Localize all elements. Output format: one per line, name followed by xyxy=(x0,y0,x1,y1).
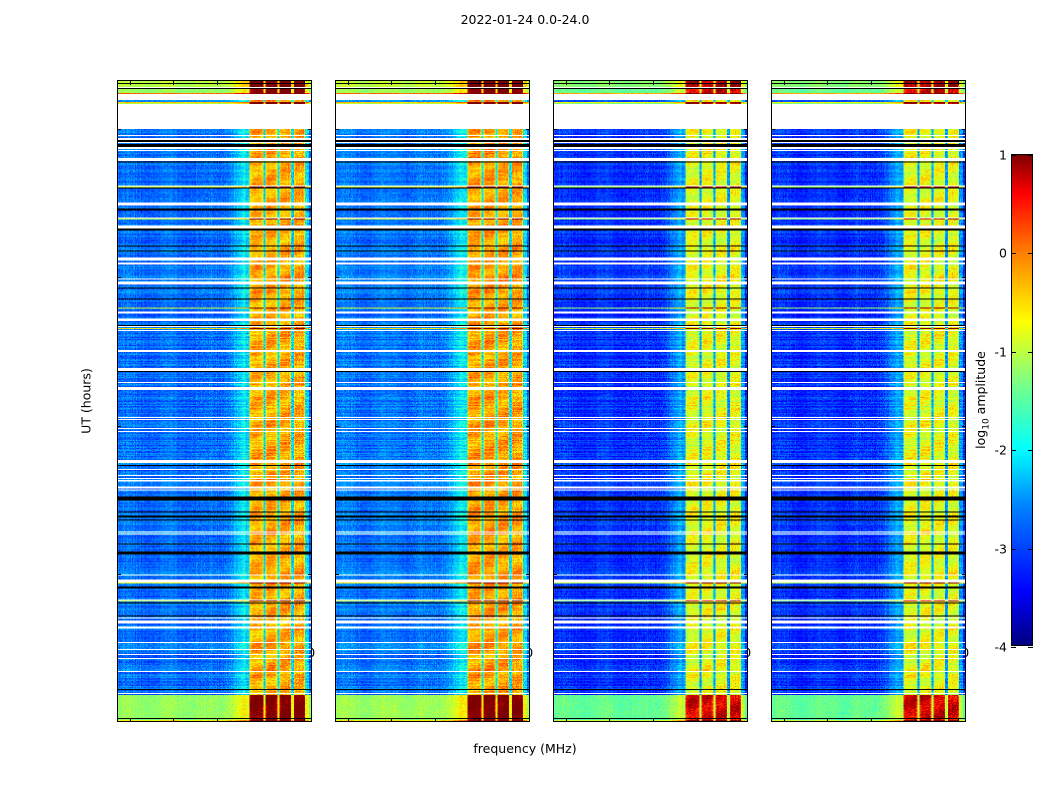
panel-yx-xtick-top-320 xyxy=(784,81,785,85)
panel-yx-xtick-365 xyxy=(915,718,916,722)
panel-yx-xtick-320 xyxy=(784,718,785,722)
panel-xy-xtick-top-335 xyxy=(609,81,610,85)
colorbar-tick-right--2 xyxy=(1028,450,1033,451)
panel-yx-xtick-350 xyxy=(871,718,872,722)
colorbar[interactable]: 10-1-2-3-4 xyxy=(1011,154,1033,646)
colorbar-ticklabel--1: -1 xyxy=(995,344,1007,359)
panel-yy-xtick-335 xyxy=(391,718,392,722)
panel-yy-xtick-top-320 xyxy=(348,81,349,85)
colorbar-tick-right--1 xyxy=(1028,352,1033,353)
panel-xx-xtick-335 xyxy=(173,718,174,722)
colorbar-label-main: log xyxy=(973,430,988,449)
colorbar-ticklabel--3: -3 xyxy=(995,541,1007,556)
colorbar-tick-right-0 xyxy=(1028,253,1033,254)
figure-suptitle: 2022-01-24 0.0-24.0 xyxy=(0,12,1050,27)
panel-xx-spectrogram xyxy=(118,81,311,721)
colorbar-ticklabel--2: -2 xyxy=(995,443,1007,458)
colorbar-label-subscript: 10 xyxy=(981,418,991,429)
panel-xx[interactable]: XX, V5*V14=EA06*EA1705101520 xyxy=(117,80,312,722)
colorbar-tick-right-1 xyxy=(1028,155,1033,156)
colorbar-tick--4 xyxy=(1011,647,1016,648)
panel-xy-ytick-10 xyxy=(553,426,557,427)
panel-yy-spectrogram xyxy=(336,81,529,721)
panel-yx-xtick-top-335 xyxy=(827,81,828,85)
panel-yx-ytick-right-5 xyxy=(962,574,966,575)
panel-xy[interactable]: XY, V5*V14=EA06*EA1705101520 xyxy=(553,80,748,722)
panel-xx-xtick-top-320 xyxy=(130,81,131,85)
colorbar-tick--3 xyxy=(1011,549,1016,550)
panel-yx-xtick-380 xyxy=(958,718,959,722)
colorbar-tick-1 xyxy=(1011,155,1016,156)
panel-yx-xtick-top-365 xyxy=(915,81,916,85)
panel-xy-xtick-top-350 xyxy=(653,81,654,85)
panel-xx-ytick-20 xyxy=(117,129,121,130)
panel-xx-xtick-top-365 xyxy=(261,81,262,85)
y-axis-label: UT (hours) xyxy=(79,368,94,434)
panel-yy-ytick-10 xyxy=(335,426,339,427)
panel-yy-ytick-5 xyxy=(335,574,339,575)
panel-yx-xtick-top-350 xyxy=(871,81,872,85)
panel-xx-xtick-top-380 xyxy=(304,81,305,85)
panel-xx-xtick-380 xyxy=(304,718,305,722)
panel-yy-ytick-right-20 xyxy=(526,129,530,130)
panel-yx-ytick-10 xyxy=(771,426,775,427)
colorbar-tick--1 xyxy=(1011,352,1016,353)
panel-xx-heatmap-canvas xyxy=(118,81,311,721)
panel-xx-ytick-15 xyxy=(117,277,121,278)
panel-xx-xtick-top-335 xyxy=(173,81,174,85)
panel-yx-ytick-right-15 xyxy=(962,277,966,278)
panel-yx-xtick-top-380 xyxy=(958,81,959,85)
panel-yy-ytick-15 xyxy=(335,277,339,278)
panel-xx-xtick-350 xyxy=(217,718,218,722)
panel-yy-ytick-right-5 xyxy=(526,574,530,575)
colorbar-tick-0 xyxy=(1011,253,1016,254)
panel-xy-ytick-right-10 xyxy=(744,426,748,427)
colorbar-label: log10 amplitude xyxy=(973,351,992,449)
panel-xy-spectrogram xyxy=(554,81,747,721)
panel-xx-ytick-right-5 xyxy=(308,574,312,575)
panel-yy-ytick-right-15 xyxy=(526,277,530,278)
panel-yy-xtick-top-365 xyxy=(479,81,480,85)
panel-xy-xtick-320 xyxy=(566,718,567,722)
panel-xy-xtick-top-380 xyxy=(740,81,741,85)
colorbar-tick-right--3 xyxy=(1028,549,1033,550)
panel-yx-ytick-5 xyxy=(771,574,775,575)
panel-xy-xtick-top-320 xyxy=(566,81,567,85)
colorbar-label-tail: amplitude xyxy=(973,351,988,418)
figure-canvas: 2022-01-24 0.0-24.0 frequency (MHz) UT (… xyxy=(0,0,1050,800)
panel-yx-ytick-right-20 xyxy=(962,129,966,130)
panel-xx-ytick-right-15 xyxy=(308,277,312,278)
panel-yy-xtick-top-350 xyxy=(435,81,436,85)
panel-yy-xtick-350 xyxy=(435,718,436,722)
panel-yx[interactable]: YX, V5*V14=EA06*EA1705101520 xyxy=(771,80,966,722)
panel-xy-heatmap-canvas xyxy=(554,81,747,721)
panel-yy-ytick-20 xyxy=(335,129,339,130)
panel-xy-xtick-350 xyxy=(653,718,654,722)
panel-xy-xtick-335 xyxy=(609,718,610,722)
colorbar-ticklabel-1: 1 xyxy=(999,148,1007,163)
x-axis-label: frequency (MHz) xyxy=(0,741,1050,756)
panel-xx-ytick-10 xyxy=(117,426,121,427)
panel-yy[interactable]: YY, V5*V14=EA06*EA1705101520 xyxy=(335,80,530,722)
panel-yy-xtick-top-335 xyxy=(391,81,392,85)
panel-yy-xtick-365 xyxy=(479,718,480,722)
panel-xx-xtick-top-350 xyxy=(217,81,218,85)
panel-yx-heatmap-canvas xyxy=(772,81,965,721)
panel-xy-ytick-right-5 xyxy=(744,574,748,575)
panel-xy-ytick-20 xyxy=(553,129,557,130)
panel-yy-xtick-top-380 xyxy=(522,81,523,85)
panel-xx-ytick-right-10 xyxy=(308,426,312,427)
colorbar-ticklabel--4: -4 xyxy=(995,640,1007,655)
panel-xy-xtick-top-365 xyxy=(697,81,698,85)
panel-yx-ytick-15 xyxy=(771,277,775,278)
panel-xx-ytick-5 xyxy=(117,574,121,575)
colorbar-tick--2 xyxy=(1011,450,1016,451)
panel-xy-xtick-365 xyxy=(697,718,698,722)
panel-xy-ytick-right-20 xyxy=(744,129,748,130)
panel-xy-ytick-15 xyxy=(553,277,557,278)
panel-yx-ytick-right-10 xyxy=(962,426,966,427)
panel-yx-xtick-335 xyxy=(827,718,828,722)
panel-yy-ytick-right-10 xyxy=(526,426,530,427)
panel-yx-spectrogram xyxy=(772,81,965,721)
panel-xx-xtick-320 xyxy=(130,718,131,722)
panel-yx-ytick-20 xyxy=(771,129,775,130)
panel-xy-xtick-380 xyxy=(740,718,741,722)
panel-xy-ytick-right-15 xyxy=(744,277,748,278)
panel-yy-xtick-320 xyxy=(348,718,349,722)
panel-yy-xtick-380 xyxy=(522,718,523,722)
colorbar-tick-right--4 xyxy=(1028,647,1033,648)
panel-xx-ytick-right-20 xyxy=(308,129,312,130)
panel-xy-ytick-5 xyxy=(553,574,557,575)
panel-xx-xtick-365 xyxy=(261,718,262,722)
panel-yy-heatmap-canvas xyxy=(336,81,529,721)
colorbar-ticklabel-0: 0 xyxy=(999,246,1007,261)
